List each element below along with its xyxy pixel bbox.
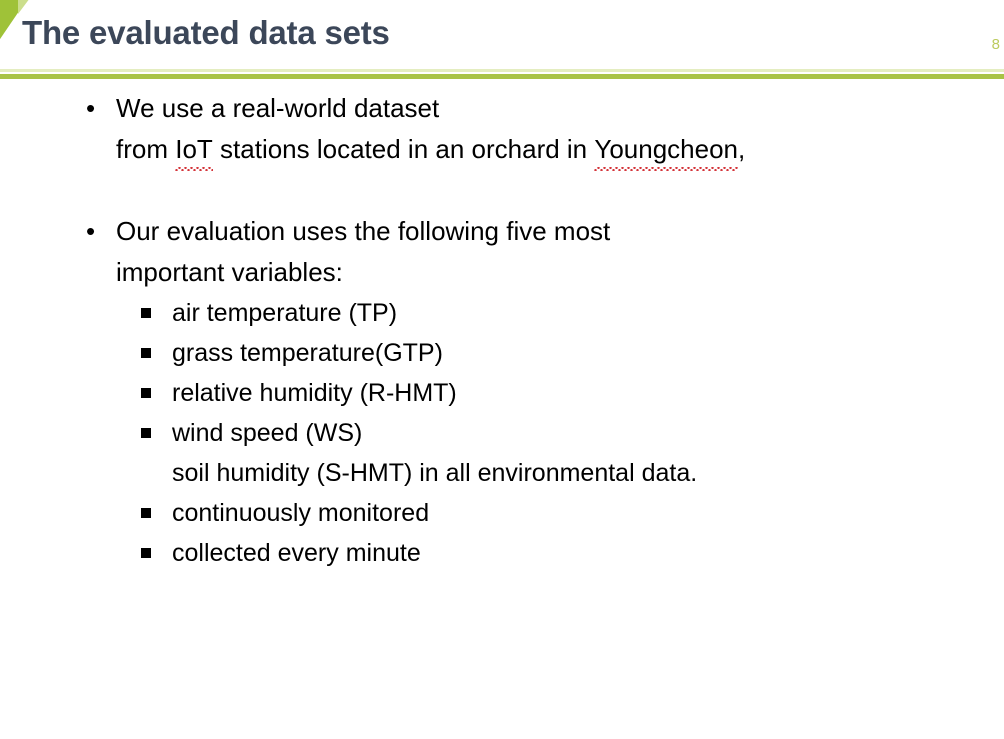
sub-bullet-text: continuously monitored <box>172 493 1004 533</box>
bullet-item-evaluation: • Our evaluation uses the following five… <box>0 211 1004 293</box>
paragraph-spacer <box>0 170 1004 211</box>
page-title: The evaluated data sets <box>22 14 390 52</box>
bullet-square-icon <box>141 308 151 318</box>
sub-bullet-item-relative-humidity: relative humidity (R-HMT) <box>0 373 1004 413</box>
continuation-text: soil humidity (S-HMT) in all environment… <box>172 459 697 487</box>
misspelled-word-iot: IoT <box>175 129 213 170</box>
bullet-square-icon <box>141 548 151 558</box>
sub-bullet-item-air-temperature: air temperature (TP) <box>0 293 1004 333</box>
text-fragment-post: , <box>738 134 745 164</box>
bullet-text-line1: We use a real-world dataset <box>116 88 1004 129</box>
text-fragment-mid: stations located in an orchard in <box>213 134 595 164</box>
bullet-dot-icon: • <box>86 211 95 252</box>
sub-bullet-text: relative humidity (R-HMT) <box>172 373 1004 413</box>
sub-bullet-text: wind speed (WS) <box>172 413 1004 453</box>
sub-bullet-continuation-soil-humidity: soil humidity (S-HMT) in all environment… <box>0 453 1004 493</box>
slide-canvas: The evaluated data sets 8 • We use a rea… <box>0 0 1004 739</box>
bullet-square-icon <box>141 348 151 358</box>
bullet-dot-icon: • <box>86 88 95 129</box>
sub-bullet-item-grass-temperature: grass temperature(GTP) <box>0 333 1004 373</box>
bullet-square-icon <box>141 508 151 518</box>
text-fragment-pre: from <box>116 134 175 164</box>
sub-bullet-item-wind-speed: wind speed (WS) <box>0 413 1004 453</box>
misspelled-word-youngcheon: Youngcheon <box>594 129 738 170</box>
bullet-item-dataset: • We use a real-world dataset from IoT s… <box>0 88 1004 170</box>
sub-bullet-text: grass temperature(GTP) <box>172 333 1004 373</box>
bullet-square-icon <box>141 428 151 438</box>
bullet-text-line2: from IoT stations located in an orchard … <box>116 129 1004 170</box>
page-number: 8 <box>992 36 1000 53</box>
bullet-square-icon <box>141 388 151 398</box>
corner-triangle-light-icon <box>18 0 30 14</box>
slide-body: • We use a real-world dataset from IoT s… <box>0 88 1004 573</box>
bullet-text: Our evaluation uses the following five m… <box>116 211 1004 293</box>
sub-bullet-text: collected every minute <box>172 533 1004 573</box>
sub-bullet-item-collected-every-minute: collected every minute <box>0 533 1004 573</box>
sub-bullet-item-continuously-monitored: continuously monitored <box>0 493 1004 533</box>
sub-bullet-text: air temperature (TP) <box>172 293 1004 333</box>
divider-rule-green <box>0 74 1004 79</box>
